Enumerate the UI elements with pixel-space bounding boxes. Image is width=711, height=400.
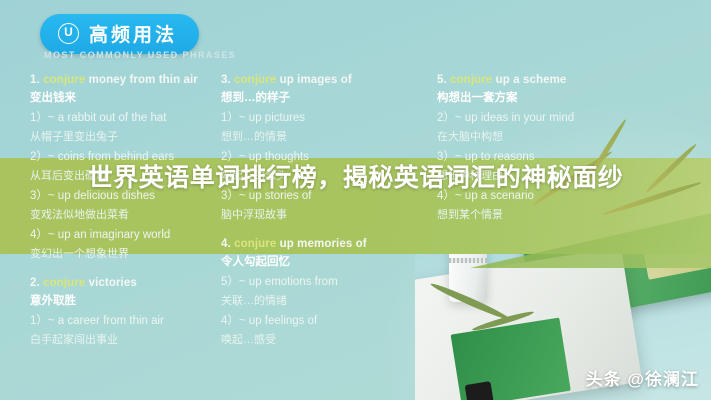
- phrase-number: 3.: [221, 74, 234, 86]
- phrase-sub-item: 1）~ up pictures想到…的情景: [221, 109, 432, 147]
- badge-label: 高频用法: [89, 20, 177, 47]
- phrase-rest: up images of: [276, 74, 351, 86]
- phrase-sub-cn: 想到某个情景: [437, 206, 648, 225]
- phrase-sub-item: 2）~ up ideas in your mind在大脑中构想: [437, 109, 648, 147]
- circled-u-icon: U: [58, 23, 79, 44]
- phrase-sub-en: 1）~ up pictures: [221, 109, 432, 128]
- phrase-rest: up a scheme: [492, 74, 566, 86]
- phrase-sub-item: 4）~ up an imaginary world变幻出一个想象世界: [30, 226, 216, 264]
- image-canvas: U 高频用法 MOST COMMONLY USED PHRASES 1. con…: [0, 0, 711, 400]
- phrase-sub-en: 2）~ up ideas in your mind: [437, 109, 648, 128]
- badge-subtitle: MOST COMMONLY USED PHRASES: [44, 50, 264, 60]
- phrase-sub-cn: 变幻出一个想象世界: [30, 245, 216, 264]
- phrase-entry-head: 4. conjure up memories of: [221, 236, 432, 253]
- overlay-title: 世界英语单词排行榜，揭秘英语词汇的神秘面纱: [0, 160, 711, 196]
- watermark: 头条 @徐澜江: [586, 365, 699, 390]
- phrase-entry: 2. conjure victories意外取胜1）~ a career fro…: [30, 275, 216, 350]
- phrase-entry: 4. conjure up memories of令人勾起回忆5）~ up em…: [221, 236, 432, 350]
- phrase-entry-head: 2. conjure victories: [30, 275, 216, 292]
- phrase-sub-cn: 变戏法似地做出菜肴: [30, 206, 216, 225]
- phrase-sub-cn: 脑中浮现故事: [221, 206, 432, 225]
- phrase-sub-cn: 关联…的情绪: [221, 292, 432, 311]
- phrase-sub-en: 4）~ up feelings of: [221, 312, 432, 331]
- phrase-entry: 5. conjure up a scheme构想出一套方案2）~ up idea…: [437, 72, 648, 225]
- phrase-sub-item: 1）~ a rabbit out of the hat从帽子里变出兔子: [30, 109, 216, 147]
- phrase-keyword: conjure: [234, 238, 276, 250]
- phrase-keyword: conjure: [43, 74, 85, 86]
- phrase-number: 1.: [30, 74, 43, 86]
- phrase-sub-cn: 从帽子里变出兔子: [30, 128, 216, 147]
- phrase-translation: 令人勾起回忆: [221, 253, 432, 272]
- phrase-sub-cn: 白手起家闯出事业: [30, 331, 216, 350]
- phrase-number: 4.: [221, 238, 234, 250]
- phrase-columns: 1. conjure money from thin air变出钱来1）~ a …: [0, 72, 711, 400]
- phrase-sub-en: 1）~ a career from thin air: [30, 312, 216, 331]
- phrase-rest: up memories of: [276, 238, 366, 250]
- phrase-sub-en: 1）~ a rabbit out of the hat: [30, 109, 216, 128]
- phrase-rest: victories: [85, 277, 137, 289]
- phrase-sub-cn: 唤起…感受: [221, 331, 432, 350]
- phrase-translation: 变出钱来: [30, 89, 216, 108]
- phrase-sub-en: 5）~ up emotions from: [221, 273, 432, 292]
- phrase-number: 2.: [30, 277, 43, 289]
- phrase-keyword: conjure: [450, 74, 492, 86]
- phrase-column-3: 5. conjure up a scheme构想出一套方案2）~ up idea…: [432, 72, 648, 400]
- phrase-number: 5.: [437, 74, 450, 86]
- phrase-translation: 想到…的样子: [221, 89, 432, 108]
- phrase-sub-cn: 在大脑中构想: [437, 128, 648, 147]
- phrase-column-1: 1. conjure money from thin air变出钱来1）~ a …: [0, 72, 216, 400]
- phrase-translation: 意外取胜: [30, 292, 216, 311]
- phrase-sub-item: 5）~ up emotions from关联…的情绪: [221, 273, 432, 311]
- phrase-sub-item: 4）~ up feelings of唤起…感受: [221, 312, 432, 350]
- phrase-keyword: conjure: [234, 74, 276, 86]
- phrase-sub-item: 1）~ a career from thin air白手起家闯出事业: [30, 312, 216, 350]
- phrase-translation: 构想出一套方案: [437, 89, 648, 108]
- phrase-sub-en: 4）~ up an imaginary world: [30, 226, 216, 245]
- phrase-column-2: 3. conjure up images of想到…的样子1）~ up pict…: [216, 72, 432, 400]
- section-badge: U 高频用法: [40, 14, 199, 54]
- phrase-entry-head: 5. conjure up a scheme: [437, 72, 648, 89]
- phrase-keyword: conjure: [43, 277, 85, 289]
- phrase-sub-cn: 想到…的情景: [221, 128, 432, 147]
- phrase-entry-head: 3. conjure up images of: [221, 72, 432, 89]
- phrase-rest: money from thin air: [85, 74, 198, 86]
- phrase-entry: 3. conjure up images of想到…的样子1）~ up pict…: [221, 72, 432, 225]
- phrase-entry-head: 1. conjure money from thin air: [30, 72, 216, 89]
